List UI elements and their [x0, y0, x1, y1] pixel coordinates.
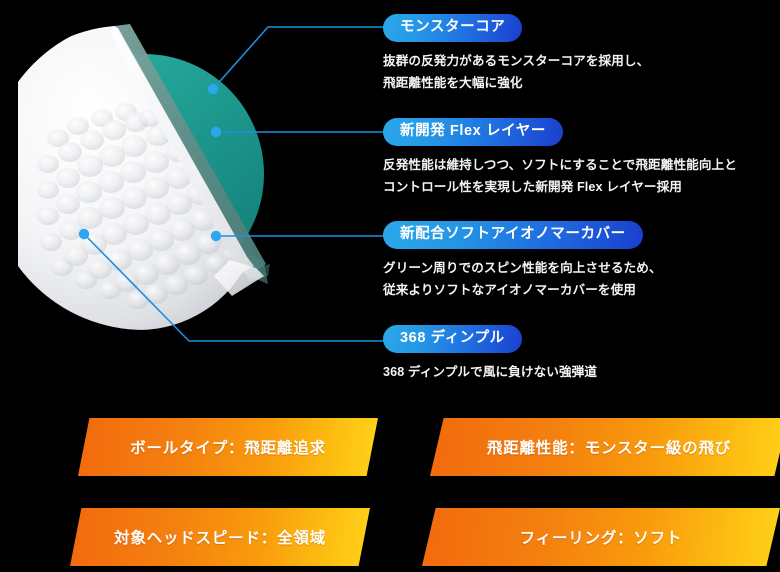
callout-label-dimple: 368 ディンプル: [383, 325, 522, 353]
callout-label-flex-layer: 新開発 Flex レイヤー: [383, 118, 563, 146]
golf-ball-cutaway-figure: [18, 14, 270, 334]
callout-description-cover: グリーン周りでのスピン性能を向上させるため、 従来よりソフトなアイオノマーカバー…: [383, 258, 662, 301]
spec-banner-grid: ボールタイプ：飛距離追求 飛距離性能：モンスター級の飛び 対象ヘッドスピード：全…: [0, 418, 780, 572]
callout-description-core: 抜群の反発力があるモンスターコアを採用し、 飛距離性能を大幅に強化: [383, 51, 649, 94]
spec-banner-ball-type: ボールタイプ：飛距離追求: [78, 418, 378, 476]
spec-banner-feeling: フィーリング：ソフト: [422, 508, 780, 566]
callout-label-cover: 新配合ソフトアイオノマーカバー: [383, 221, 643, 249]
callout-flex-layer: 新開発 Flex レイヤー 反発性能は維持しつつ、ソフトにすることで飛距離性能向…: [383, 118, 737, 198]
callout-description-flex-layer: 反発性能は維持しつつ、ソフトにすることで飛距離性能向上と コントロール性を実現し…: [383, 155, 737, 198]
spec-banner-label: 飛距離性能：モンスター級の飛び: [487, 436, 731, 458]
callout-dimple: 368 ディンプル 368 ディンプルで風に負けない強弾道: [383, 325, 597, 384]
spec-banner-head-speed: 対象ヘッドスピード：全領域: [70, 508, 370, 566]
callout-label-core: モンスターコア: [383, 14, 522, 42]
infographic-canvas: モンスターコア 抜群の反発力があるモンスターコアを採用し、 飛距離性能を大幅に強…: [0, 0, 780, 572]
spec-banner-label: ボールタイプ：飛距離追求: [130, 436, 326, 458]
golf-ball-illustration: [18, 14, 270, 334]
spec-banner-label: フィーリング：ソフト: [520, 526, 683, 548]
spec-banner-label: 対象ヘッドスピード：全領域: [114, 526, 326, 548]
spec-banner-row: ボールタイプ：飛距離追求 飛距離性能：モンスター級の飛び: [0, 418, 780, 476]
spec-banner-distance-performance: 飛距離性能：モンスター級の飛び: [430, 418, 780, 476]
spec-banner-row: 対象ヘッドスピード：全領域 フィーリング：ソフト: [0, 508, 780, 566]
callout-cover: 新配合ソフトアイオノマーカバー グリーン周りでのスピン性能を向上させるため、 従…: [383, 221, 662, 301]
callout-core: モンスターコア 抜群の反発力があるモンスターコアを採用し、 飛距離性能を大幅に強…: [383, 14, 649, 94]
callout-description-dimple: 368 ディンプルで風に負けない強弾道: [383, 362, 597, 384]
